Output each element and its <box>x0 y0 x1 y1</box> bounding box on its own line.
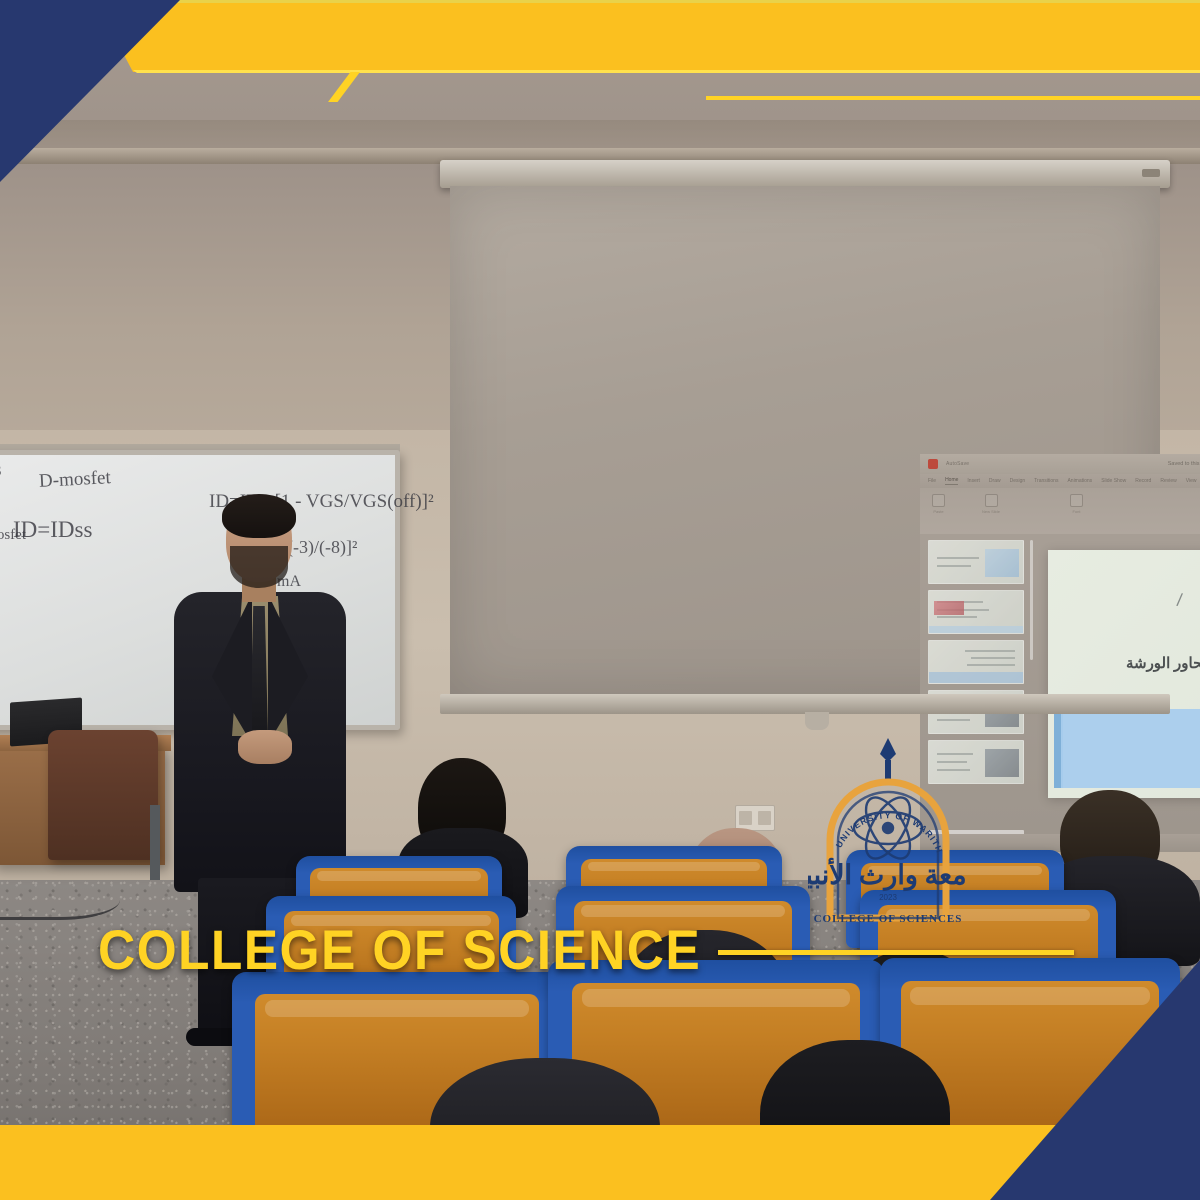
ribbon-group-label: Font <box>1072 509 1080 514</box>
new-slide-icon <box>985 494 998 507</box>
whiteboard-note: D-mosfet <box>38 467 111 493</box>
pen-nib-icon <box>880 738 896 762</box>
paste-icon <box>932 494 945 507</box>
slide-slash-mark: / <box>1176 589 1184 610</box>
audience-head <box>760 1040 950 1200</box>
whiteboard-note: 3 <box>0 461 2 481</box>
ribbon-group-new-slide[interactable]: New Slide <box>982 494 1000 514</box>
ppt-ribbon-tabs: File Home Insert Draw Design Transitions… <box>920 474 1200 488</box>
projector-screen: AutoSave الورشة العلمية بمناسبة اليوم ال… <box>450 186 1160 696</box>
ribbon-group-label: Paste <box>933 509 943 514</box>
font-icon <box>1070 494 1083 507</box>
logo-year: 2023 <box>879 893 897 902</box>
floor-cable <box>0 880 120 920</box>
tab-file[interactable]: File <box>928 478 936 484</box>
ribbon-group-font[interactable]: Font <box>1070 494 1083 514</box>
lecture-hall-photo: 3 D-mosfet ID=IDss E-mosfet ID=IDss[1 - … <box>0 0 1200 1200</box>
slide-accent-block <box>1061 709 1200 788</box>
ribbon-group-label: New Slide <box>982 509 1000 514</box>
projector-screen-weight-bar <box>440 694 1170 714</box>
ribbon-group-paste[interactable]: Paste <box>932 494 945 514</box>
tab-view[interactable]: View <box>1186 478 1197 484</box>
wall-outlet <box>735 805 775 831</box>
audience-head <box>430 1058 660 1200</box>
list-item[interactable] <box>928 540 1024 584</box>
logo-footer-text: COLLEGE OF SCIENCES <box>814 913 963 925</box>
office-chair <box>48 730 158 860</box>
tab-review[interactable]: Review <box>1160 478 1176 484</box>
projector-screen-case <box>440 160 1170 188</box>
projector-screen-handle[interactable] <box>805 712 829 730</box>
thumbnail-scrollbar[interactable] <box>1030 540 1033 660</box>
logo-arabic-name: جامعة وارث الأنبياء <box>808 858 968 892</box>
slide-title: محاور الورشة <box>1082 654 1200 673</box>
powerpoint-icon <box>928 459 938 469</box>
ppt-title-bar: AutoSave الورشة العلمية بمناسبة اليوم ال… <box>920 454 1200 474</box>
slide-canvas[interactable]: / محاور الورشة مقدمة عامة خلفية تاريخية … <box>1048 550 1200 798</box>
university-logo: UNIVERSITY OF WARITH AL-ANBIYA جامعة وار… <box>808 732 968 932</box>
poster-canvas: 3 D-mosfet ID=IDss E-mosfet ID=IDss[1 - … <box>0 0 1200 1200</box>
tab-insert[interactable]: Insert <box>967 478 980 484</box>
tab-draw[interactable]: Draw <box>989 478 1001 484</box>
tab-slide-show[interactable]: Slide Show <box>1101 478 1126 484</box>
tab-design[interactable]: Design <box>1010 478 1026 484</box>
tab-home[interactable]: Home <box>945 477 958 485</box>
list-item[interactable] <box>928 590 1024 634</box>
tab-animations[interactable]: Animations <box>1067 478 1092 484</box>
document-title: الورشة العلمية بمناسبة اليوم العالمي للم… <box>977 461 1200 467</box>
ppt-ribbon: Paste New Slide Font Paragraph <box>920 488 1200 534</box>
chair-leg <box>150 805 160 880</box>
list-item[interactable] <box>928 640 1024 684</box>
tab-record[interactable]: Record <box>1135 478 1151 484</box>
whiteboard-note: E-mosfet <box>0 527 26 544</box>
tab-transitions[interactable]: Transitions <box>1034 478 1058 484</box>
autosave-toggle[interactable]: AutoSave <box>946 461 969 467</box>
